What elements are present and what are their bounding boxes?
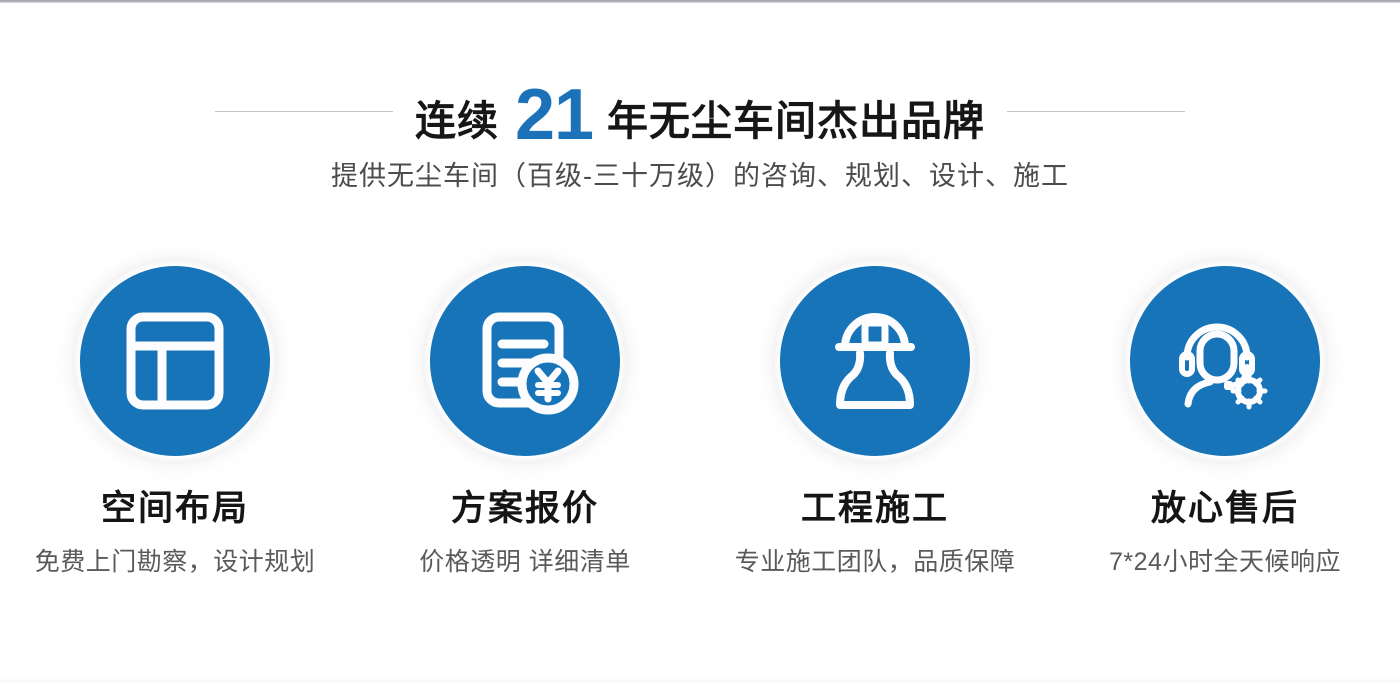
bottom-edge-strip (0, 678, 1400, 682)
feature-item-quotation[interactable]: 方案报价 价格透明 详细清单 (355, 258, 695, 577)
page-title: 连续 21 年无尘车间杰出品牌 (415, 75, 985, 147)
headline-rule-right (1007, 111, 1185, 112)
feature-description: 免费上门勘察，设计规划 (35, 547, 316, 577)
feature-description: 价格透明 详细清单 (419, 547, 630, 577)
headline-suffix-text: 年无尘车间杰出品牌 (607, 101, 985, 142)
banner-header: 连续 21 年无尘车间杰出品牌 提供无尘车间（百级-三十万级）的咨询、规划、设计… (0, 76, 1400, 192)
invoice-yen-icon (469, 305, 581, 417)
feature-title: 工程施工 (801, 490, 949, 529)
feature-title: 方案报价 (451, 490, 599, 529)
construction-worker-icon (819, 305, 931, 417)
feature-icon-circle (780, 266, 970, 456)
headset-support-gear-icon (1169, 305, 1281, 417)
feature-item-after-sales[interactable]: 放心售后 7*24小时全天候响应 (1055, 258, 1395, 577)
feature-icon-ring (772, 258, 978, 464)
top-edge-strip (0, 0, 1400, 3)
feature-icon-ring (72, 258, 278, 464)
page-subtitle: 提供无尘车间（百级-三十万级）的咨询、规划、设计、施工 (0, 160, 1400, 192)
feature-icon-ring (422, 258, 628, 464)
feature-description: 7*24小时全天候响应 (1109, 547, 1341, 577)
feature-list: 空间布局 免费上门勘察，设计规划 (0, 258, 1400, 577)
feature-title: 放心售后 (1151, 490, 1299, 529)
feature-title: 空间布局 (101, 490, 249, 529)
headline-rule-left (215, 111, 393, 112)
feature-item-construction[interactable]: 工程施工 专业施工团队，品质保障 (705, 258, 1045, 577)
feature-item-space-layout[interactable]: 空间布局 免费上门勘察，设计规划 (5, 258, 345, 577)
feature-description: 专业施工团队，品质保障 (735, 547, 1016, 577)
headline-row: 连续 21 年无尘车间杰出品牌 (0, 76, 1400, 146)
feature-icon-circle (80, 266, 270, 456)
layout-grid-icon (119, 305, 231, 417)
feature-icon-circle (1130, 266, 1320, 456)
headline-years-number: 21 (515, 79, 593, 151)
feature-icon-ring (1122, 258, 1328, 464)
feature-icon-circle (430, 266, 620, 456)
headline-prefix-text: 连续 (415, 101, 499, 142)
